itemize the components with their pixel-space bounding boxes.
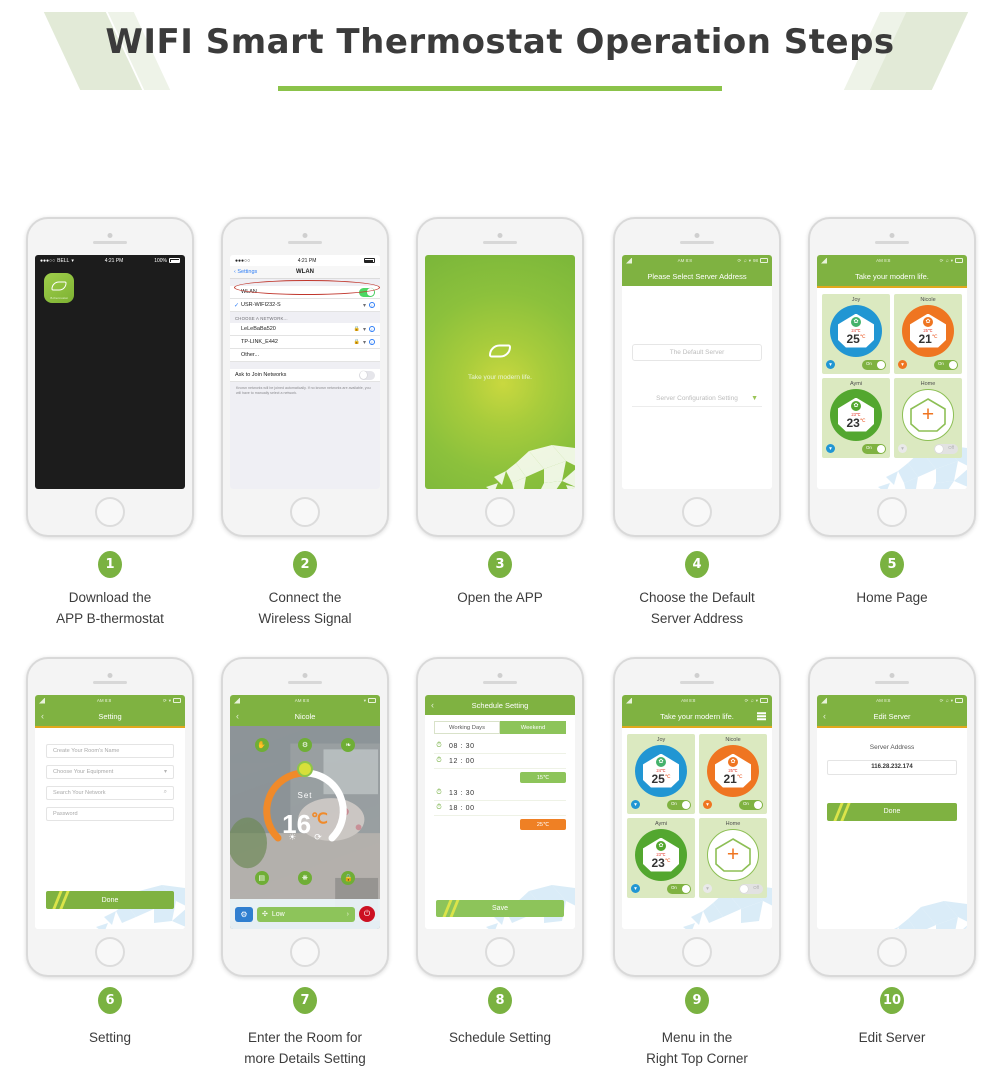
leaf-icon (52, 281, 67, 290)
home-button[interactable] (485, 497, 515, 527)
step-badge-2: 2 (293, 551, 317, 578)
app-bar-title: Please Select Server Address (647, 272, 746, 281)
speaker-icon (288, 241, 322, 244)
step-caption-6-line1: Setting (10, 1028, 210, 1049)
signal-icon (821, 698, 827, 704)
speaker-icon (680, 241, 714, 244)
music-icon: ♫ (750, 698, 753, 703)
server-config-label: Server Configuration Setting (656, 395, 738, 402)
room-card-grid: Joy ✿ 24℃ 25℃ ▾ On (627, 734, 767, 898)
dial-knob[interactable] (297, 761, 313, 777)
crystal-artwork (671, 475, 772, 489)
chevron-down-icon: ▼ (751, 395, 758, 402)
room-detail-body: ✋ ⚙ ❧ Set 16℃ ☀ ⟳ ▤ (230, 726, 380, 929)
accent-divider (817, 726, 967, 728)
app-bar-title: Take your modern life. (660, 712, 734, 721)
room-name: Joy (825, 297, 887, 303)
step-badge-10: 10 (880, 987, 904, 1014)
room-dial[interactable]: ✿ 25℃ 21℃ (902, 305, 954, 357)
camera-icon (695, 233, 700, 238)
camera-icon (890, 233, 895, 238)
battery-icon (955, 258, 963, 263)
step-10: AM 8:8 ⟳ ♫ ▾ ‹ Edit Server Server Addres… (792, 657, 992, 1049)
step-caption-2-line1: Connect the (205, 588, 405, 609)
other-network-row[interactable]: Other... (230, 349, 380, 362)
speaker-icon (93, 681, 127, 684)
home-button[interactable] (877, 497, 907, 527)
android-status-bar: AM 8:8 ⟳ ▾ (35, 695, 185, 706)
battery-icon (760, 258, 768, 263)
step-4: AM 8:8 ⟳ ♫ ▾ 98 Please Select Server Add… (597, 217, 797, 630)
phone-screen-1: ●●●○○ BELL ▾ 4:21 PM 100% B-thermostat (35, 255, 185, 489)
save-label: Save (492, 905, 508, 912)
phone-screen-8: ‹ Schedule Setting Working Days Weekend … (425, 695, 575, 929)
mode-icon: ✿ (923, 317, 933, 327)
room-power-toggle[interactable]: Off (739, 884, 763, 894)
wlan-label: WLAN (235, 289, 359, 295)
mode-icon: ✿ (728, 757, 738, 767)
room-card-grid: Joy ✿ 24℃ 25℃ ▾ On (822, 294, 962, 458)
room-card[interactable]: Joy ✿ 24℃ 25℃ ▾ On (627, 734, 695, 814)
crystal-artwork (866, 873, 967, 929)
room-dial[interactable]: ✿ 23℃ 23℃ (635, 829, 687, 881)
step-7: AM 8:8 ▾ ‹ Nicole (205, 657, 405, 1070)
app-bar-6: ‹ Setting (35, 706, 185, 726)
equipment-select[interactable]: Choose Your Equipment ▾ (46, 765, 174, 779)
network-row[interactable]: LeLeBaBa520 🔒 ▾ i (230, 323, 380, 336)
home-button[interactable] (95, 497, 125, 527)
phone-frame-7: AM 8:8 ▾ ‹ Nicole (221, 657, 389, 977)
default-server-button[interactable]: The Default Server (632, 344, 762, 361)
wifi-status-icon: ▾ (631, 884, 640, 893)
step-caption-9-line2: Right Top Corner (597, 1049, 797, 1070)
phone-screen-7: AM 8:8 ▾ ‹ Nicole (230, 695, 380, 929)
clock-label: AM 8:8 (681, 698, 695, 703)
lock-icon[interactable]: 🔒 (341, 871, 355, 885)
speaker-icon (288, 681, 322, 684)
room-name: Home (897, 381, 959, 387)
tab-working-days[interactable]: Working Days (434, 721, 500, 734)
app-bar-5: Take your modern life. (817, 266, 967, 286)
hamburger-menu-icon[interactable] (757, 712, 766, 720)
network-ssid: TP-LINK_E442 (235, 339, 354, 345)
camera-icon (303, 233, 308, 238)
server-address-value: 116.28.232.174 (871, 764, 912, 770)
add-room-dial[interactable]: + (707, 829, 759, 881)
step-badge-6: 6 (98, 987, 122, 1014)
home-button[interactable] (95, 937, 125, 967)
setting-form: Create Your Room's Name Choose Your Equi… (35, 728, 185, 930)
step-caption-7-line2: more Details Setting (205, 1049, 405, 1070)
step-badge-4: 4 (685, 551, 709, 578)
password-placeholder: Password (53, 811, 78, 817)
step-badge-3: 3 (488, 551, 512, 578)
add-room-card[interactable]: Home + ▾ Off (894, 378, 962, 458)
wifi-icon: ▾ (363, 339, 366, 346)
splash-tagline: Take your modern life. (425, 374, 575, 381)
room-card[interactable]: Nicole ✿ 25℃ 21℃ ▾ On (894, 294, 962, 374)
mode-icon: ✿ (656, 757, 666, 767)
step-caption-1-line1: Download the (10, 588, 210, 609)
sync-icon: ⟳ (738, 258, 742, 264)
signal-icon (626, 258, 632, 264)
home-button[interactable] (682, 937, 712, 967)
info-icon[interactable]: i (369, 326, 375, 332)
temp-pill-1[interactable]: 15℃ (520, 772, 566, 783)
server-config-dropdown[interactable]: Server Configuration Setting ▼ (632, 391, 762, 407)
wifi-status-icon: ▾ (703, 884, 712, 893)
phone-frame-5: AM 8:8 ⟳ ♫ ▾ Take your modern life. Joy … (808, 217, 976, 537)
app-bar-8: ‹ Schedule Setting (425, 695, 575, 715)
crystal-artwork (474, 417, 575, 489)
battery-icon (368, 698, 376, 703)
phone-screen-6: AM 8:8 ⟳ ▾ ‹ Setting Create Your Room's … (35, 695, 185, 929)
phone-screen-9: AM 8:8 ⟳ ♫ ▾ Take your modern life. Joy (622, 695, 772, 929)
search-icon: ⌕ (164, 789, 167, 796)
wlan-master-row[interactable]: WLAN (230, 286, 380, 299)
home-page-body: Joy ✿ 24℃ 25℃ ▾ On (817, 288, 967, 490)
ask-to-join-toggle[interactable] (359, 371, 375, 380)
app-bar-4: Please Select Server Address (622, 266, 772, 286)
room-power-toggle[interactable]: Off (934, 444, 958, 454)
phone-screen-5: AM 8:8 ⟳ ♫ ▾ Take your modern life. Joy … (817, 255, 967, 489)
done-button[interactable]: Done (827, 803, 957, 821)
home-button[interactable] (682, 497, 712, 527)
phone-frame-4: AM 8:8 ⟳ ♫ ▾ 98 Please Select Server Add… (613, 217, 781, 537)
page-title: WIFI Smart Thermostat Operation Steps (0, 22, 1000, 62)
room-dial[interactable]: ✿ 23℃ 23℃ (830, 389, 882, 441)
app-icon-label: B-thermostat (44, 296, 74, 300)
step-caption-1-line2: APP B-thermostat (10, 609, 210, 630)
signal-icon (626, 698, 632, 704)
home-button[interactable] (877, 937, 907, 967)
tab-weekend[interactable]: Weekend (500, 721, 566, 734)
room-name: Home (702, 821, 764, 827)
wifi-icon: ▾ (363, 326, 366, 333)
network-ssid: LeLeBaBa520 (235, 326, 354, 332)
step-caption-3-line1: Open the APP (400, 588, 600, 609)
house-icon: ✿ 25℃ 21℃ (910, 314, 946, 348)
step-badge-7: 7 (293, 987, 317, 1014)
wifi-icon: ▾ (169, 698, 171, 704)
carrier-label: BELL (57, 258, 69, 264)
period-3-icon: ⏱ (434, 788, 444, 798)
target-temp: 21℃ (715, 773, 751, 785)
house-icon: ✿ 25℃ 21℃ (715, 754, 751, 788)
schedule-tabs: Working Days Weekend (434, 721, 566, 734)
signal-icon (39, 698, 45, 704)
title-underline (278, 86, 722, 91)
wifi-icon: ▾ (951, 258, 953, 264)
wlan-list: WLAN ✓ USR-WIFI232-S ▾ i CHOOSE A NETWOR… (230, 279, 380, 489)
camera-icon (498, 233, 503, 238)
step-9: AM 8:8 ⟳ ♫ ▾ Take your modern life. Joy (597, 657, 797, 1070)
wlan-toggle[interactable] (359, 288, 375, 297)
speaker-icon (875, 681, 909, 684)
sun-icon[interactable]: ☀ (288, 832, 296, 843)
schedule-slot[interactable]: ⏱ 08 : 30 (434, 739, 566, 754)
plus-icon: + (727, 844, 739, 865)
wifi-icon: ▾ (364, 698, 366, 704)
room-card[interactable]: Aymi ✿ 23℃ 23℃ ▾ On (822, 378, 890, 458)
step-caption-5-line1: Home Page (792, 588, 992, 609)
wifi-icon: ▾ (363, 302, 366, 309)
fan-speed-button[interactable]: ✣ Low › (257, 907, 355, 922)
app-bar-title: Take your modern life. (855, 272, 929, 281)
phone-frame-9: AM 8:8 ⟳ ♫ ▾ Take your modern life. Joy (613, 657, 781, 977)
period-4-icon: ⏱ (434, 803, 444, 813)
clock-label: 4:21 PM (105, 258, 124, 264)
leaf-icon[interactable]: ❧ (341, 738, 355, 752)
camera-icon (890, 673, 895, 678)
info-icon[interactable]: i (369, 302, 375, 308)
mid-icon-row: ☀ ⟳ (230, 832, 380, 843)
room-power-toggle[interactable]: On (862, 360, 886, 370)
mode-icon: ✿ (851, 317, 861, 327)
ios-status-bar: ●●●○○ BELL ▾ 4:21 PM 100% (35, 255, 185, 266)
room-dial[interactable]: ✿ 24℃ 25℃ (635, 745, 687, 797)
period-1-icon: ⏱ (434, 741, 444, 751)
room-name-input[interactable]: Create Your Room's Name (46, 744, 174, 758)
period-2-icon: ⏱ (434, 756, 444, 766)
phone-frame-6: AM 8:8 ⟳ ▾ ‹ Setting Create Your Room's … (26, 657, 194, 977)
mode-icon: ✿ (851, 401, 861, 411)
speaker-icon (483, 681, 517, 684)
ask-to-join-label: Ask to Join Networks (235, 372, 359, 378)
snowflake-icon[interactable]: ❋ (298, 871, 312, 885)
settings-icon[interactable]: ⚙ (235, 907, 253, 922)
fan-icon: ✣ (262, 910, 268, 918)
step-5: AM 8:8 ⟳ ♫ ▾ Take your modern life. Joy … (792, 217, 992, 609)
wifi-status-icon: ▾ (898, 444, 907, 453)
room-dial[interactable]: ✿ 24℃ 25℃ (830, 305, 882, 357)
set-label: Set (230, 791, 380, 800)
room-name: Aymi (630, 821, 692, 827)
clock-label: AM 8:8 (876, 258, 890, 263)
app-bar-9: Take your modern life. (622, 706, 772, 726)
target-temp: 23℃ (838, 417, 874, 429)
calendar-icon[interactable]: ▤ (255, 871, 269, 885)
app-bar-title: Setting (98, 712, 121, 721)
step-badge-5: 5 (880, 551, 904, 578)
slot-time: 18 : 00 (449, 805, 475, 812)
app-bar-title: Schedule Setting (472, 701, 529, 710)
schedule-body: Working Days Weekend ⏱ 08 : 30 ⏱ 12 : 00… (425, 715, 575, 929)
crystal-artwork (474, 857, 575, 929)
edit-server-body: Server Address 116.28.232.174 Done (817, 744, 967, 930)
battery-icon (169, 258, 180, 263)
camera-icon (498, 673, 503, 678)
step-3: Take your modern life. (400, 217, 600, 609)
house-icon: ✿ 23℃ 23℃ (838, 398, 874, 432)
slot-time: 13 : 30 (449, 790, 475, 797)
music-icon: ♫ (945, 258, 948, 263)
leaf-logo-icon (489, 344, 511, 357)
gear-icon[interactable]: ⚙ (298, 738, 312, 752)
wifi-icon: ▾ (71, 258, 74, 264)
back-button[interactable]: ‹ (236, 711, 239, 721)
app-bar-10: ‹ Edit Server (817, 706, 967, 726)
server-address-label: Server Address (817, 744, 967, 751)
clock-label: AM 8:8 (876, 698, 890, 703)
home-button[interactable] (290, 497, 320, 527)
room-power-toggle[interactable]: On (739, 800, 763, 810)
schedule-slot[interactable]: ⏱ 18 : 00 (434, 801, 566, 816)
room-power-toggle[interactable]: On (862, 444, 886, 454)
speaker-icon (875, 241, 909, 244)
signal-dots-icon: ●●●○○ (235, 258, 250, 264)
wifi-status-icon: ▾ (898, 360, 907, 369)
network-placeholder: Search Your Network (53, 790, 106, 796)
page-header: WIFI Smart Thermostat Operation Steps (0, 0, 1000, 105)
wifi-icon: ▾ (756, 698, 758, 704)
signal-icon (821, 258, 827, 264)
speaker-icon (93, 241, 127, 244)
sync-icon: ⟳ (940, 698, 944, 704)
camera-icon (108, 673, 113, 678)
battery-icon (173, 698, 181, 703)
password-input[interactable]: Password (46, 807, 174, 821)
battery-icon (760, 698, 768, 703)
step-badge-1: 1 (98, 551, 122, 578)
speaker-icon (483, 241, 517, 244)
step-8: ‹ Schedule Setting Working Days Weekend … (400, 657, 600, 1049)
sync-icon: ⟳ (940, 258, 944, 264)
network-search-input[interactable]: Search Your Network ⌕ (46, 786, 174, 800)
choose-network-header: CHOOSE A NETWORK... (230, 312, 380, 323)
phone-screen-4: AM 8:8 ⟳ ♫ ▾ 98 Please Select Server Add… (622, 255, 772, 489)
phone-frame-2: ●●●○○ 4:21 PM ‹ Settings WLAN WLAN ✓ USR… (221, 217, 389, 537)
refresh-icon[interactable]: ⟳ (314, 832, 322, 843)
splash-screen: Take your modern life. (425, 255, 575, 489)
room-card[interactable]: Nicole ✿ 25℃ 21℃ ▾ On (699, 734, 767, 814)
room-power-toggle[interactable]: On (667, 800, 691, 810)
phone-frame-8: ‹ Schedule Setting Working Days Weekend … (416, 657, 584, 977)
room-name: Aymi (825, 381, 887, 387)
battery-icon (364, 258, 375, 263)
target-temp: 23℃ (643, 857, 679, 869)
battery-icon (955, 698, 963, 703)
step-6: AM 8:8 ⟳ ▾ ‹ Setting Create Your Room's … (10, 657, 210, 1049)
music-icon: ♫ (743, 258, 746, 263)
android-status-bar: AM 8:8 ⟳ ♫ ▾ (817, 695, 967, 706)
phone-frame-3: Take your modern life. (416, 217, 584, 537)
temp-pill-2[interactable]: 25℃ (520, 819, 566, 830)
camera-icon (108, 233, 113, 238)
connected-network-row[interactable]: ✓ USR-WIFI232-S ▾ i (230, 299, 380, 312)
home-button[interactable] (290, 937, 320, 967)
settings-nav-bar: ‹ Settings WLAN (230, 266, 380, 279)
step-caption-2-line2: Wireless Signal (205, 609, 405, 630)
house-icon: ✿ 24℃ 25℃ (838, 314, 874, 348)
lock-icon: 🔒 (354, 339, 360, 345)
connected-ssid: USR-WIFI232-S (235, 302, 363, 308)
room-name: Nicole (897, 297, 959, 303)
back-to-settings-link[interactable]: ‹ Settings (234, 269, 257, 275)
clock-label: AM 8:8 (678, 258, 692, 263)
wifi-status-icon: ▾ (631, 800, 640, 809)
step-2: ●●●○○ 4:21 PM ‹ Settings WLAN WLAN ✓ USR… (205, 217, 405, 630)
lock-icon: 🔒 (354, 326, 360, 332)
wifi-status-icon: ▾ (826, 360, 835, 369)
step-caption-10-line1: Edit Server (792, 1028, 992, 1049)
step-caption-8-line1: Schedule Setting (400, 1028, 600, 1049)
done-button[interactable]: Done (46, 891, 174, 909)
battery-percent: 98 (753, 258, 758, 263)
back-button[interactable]: ‹ (823, 711, 826, 721)
android-status-bar: AM 8:8 ⟳ ♫ ▾ (622, 695, 772, 706)
bottom-icon-row: ▤ ❋ 🔒 (230, 871, 380, 885)
clock-label: AM 8:8 (97, 698, 111, 703)
android-status-bar: AM 8:8 ▾ (230, 695, 380, 706)
top-icon-row: ✋ ⚙ ❧ (230, 738, 380, 752)
chevron-right-icon: › (347, 911, 349, 918)
back-button[interactable]: ‹ (431, 700, 434, 710)
schedule-slot[interactable]: ⏱ 13 : 30 (434, 786, 566, 801)
room-name: Nicole (702, 737, 764, 743)
server-address-input[interactable]: 116.28.232.174 (827, 760, 957, 775)
save-button[interactable]: Save (436, 900, 564, 917)
schedule-slot[interactable]: ⏱ 12 : 00 (434, 754, 566, 769)
back-button[interactable]: ‹ (41, 711, 44, 721)
app-icon-b-thermostat[interactable]: B-thermostat (44, 273, 74, 303)
phone-screen-2: ●●●○○ 4:21 PM ‹ Settings WLAN WLAN ✓ USR… (230, 255, 380, 489)
step-badge-8: 8 (488, 987, 512, 1014)
step-caption-4-line1: Choose the Default (597, 588, 797, 609)
app-bar-title: Edit Server (873, 712, 910, 721)
app-bar-7: ‹ Nicole (230, 706, 380, 726)
home-page-body: Joy ✿ 24℃ 25℃ ▾ On (622, 728, 772, 930)
slot-time: 12 : 00 (449, 758, 475, 765)
phone-frame-1: ●●●○○ BELL ▾ 4:21 PM 100% B-thermostat (26, 217, 194, 537)
signal-dots-icon: ●●●○○ (40, 258, 55, 264)
clock-label: 4:21 PM (298, 258, 317, 264)
ask-to-join-row[interactable]: Ask to Join Networks (230, 369, 380, 382)
room-power-toggle[interactable]: On (667, 884, 691, 894)
network-ssid: Other... (235, 352, 375, 358)
info-icon[interactable]: i (369, 339, 375, 345)
target-temp: 25℃ (838, 333, 874, 345)
house-icon: ✿ 24℃ 25℃ (643, 754, 679, 788)
home-button[interactable] (485, 937, 515, 967)
room-dial[interactable]: ✿ 25℃ 21℃ (707, 745, 759, 797)
room-card[interactable]: Joy ✿ 24℃ 25℃ ▾ On (822, 294, 890, 374)
mode-icon: ✿ (656, 841, 666, 851)
step-caption-7-line1: Enter the Room for (205, 1028, 405, 1049)
room-bottom-bar: ⚙ ✣ Low › ⏻ (230, 899, 380, 929)
add-room-dial[interactable]: + (902, 389, 954, 441)
network-row[interactable]: TP-LINK_E442 🔒 ▾ i (230, 336, 380, 349)
phone-frame-10: AM 8:8 ⟳ ♫ ▾ ‹ Edit Server Server Addres… (808, 657, 976, 977)
room-power-toggle[interactable]: On (934, 360, 958, 370)
step-badge-9: 9 (685, 987, 709, 1014)
hand-icon[interactable]: ✋ (255, 738, 269, 752)
wlan-footer-note: Known networks will be joined automatica… (230, 382, 380, 401)
fan-speed-label: Low (272, 911, 285, 918)
room-card[interactable]: Aymi ✿ 23℃ 23℃ ▾ On (627, 818, 695, 898)
plus-icon: + (922, 404, 934, 425)
nav-title: WLAN (296, 269, 314, 275)
speaker-icon (680, 681, 714, 684)
add-room-card[interactable]: Home + ▾ Off (699, 818, 767, 898)
house-icon: ✿ 23℃ 23℃ (643, 838, 679, 872)
equipment-placeholder: Choose Your Equipment (53, 769, 113, 775)
step-caption-9-line1: Menu in the (597, 1028, 797, 1049)
wifi-status-icon: ▾ (703, 800, 712, 809)
clock-label: AM 8:8 (295, 698, 309, 703)
power-button[interactable]: ⏻ (359, 906, 375, 922)
step-caption-4-line2: Server Address (597, 609, 797, 630)
